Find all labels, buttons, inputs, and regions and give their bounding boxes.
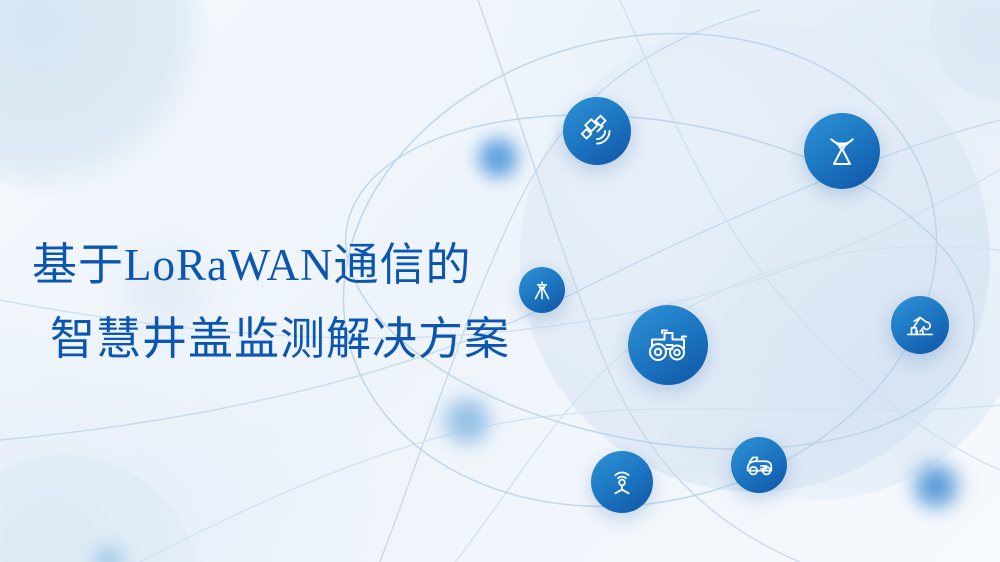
- oil-pumpjack-icon-node[interactable]: [891, 296, 949, 354]
- radio-tower-icon-node[interactable]: [804, 113, 880, 189]
- wireless-sensor-icon: [605, 465, 639, 499]
- title-block: 基于LoRaWAN通信的 智慧井盖监测解决方案: [32, 228, 562, 376]
- tractor-icon-node[interactable]: [628, 305, 708, 385]
- satellite-icon: [578, 112, 616, 150]
- oil-pumpjack-icon: [903, 308, 937, 342]
- title-line-2: 智慧井盖监测解决方案: [50, 302, 562, 376]
- satellite-icon-node[interactable]: [563, 97, 631, 165]
- title-line-1: 基于LoRaWAN通信的: [32, 228, 562, 302]
- radio-tower-icon: [821, 130, 863, 172]
- wireless-sensor-icon-node[interactable]: [591, 451, 653, 513]
- robot-mower-icon-node[interactable]: [731, 437, 787, 493]
- cover-slide: 基于LoRaWAN通信的 智慧井盖监测解决方案: [0, 0, 1000, 562]
- tractor-icon: [644, 321, 692, 369]
- robot-mower-icon: [742, 448, 776, 482]
